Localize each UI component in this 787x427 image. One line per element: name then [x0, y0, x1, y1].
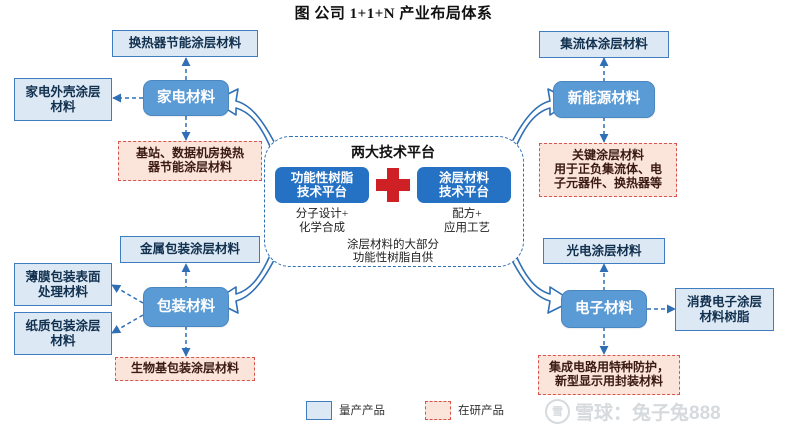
legend-swatch-in-research	[425, 401, 451, 420]
diagram-canvas: 图 公司 1+1+N 产业布局体系	[0, 0, 787, 427]
platform-left-caption-line2: 化学合成	[267, 221, 377, 235]
product-appliance-shell-coating-line2: 材料	[25, 100, 100, 114]
rnd-ic-protection-packaging-line1: 集成电路用特种防护，	[549, 361, 669, 375]
product-consumer-electronics-coating-line1: 消费电子涂层	[687, 295, 762, 309]
wire-packaging-to-paper	[112, 315, 143, 333]
product-film-packaging-surface[interactable]: 薄膜包装表面 处理材料	[14, 263, 112, 306]
platform-right-caption-line2: 应用工艺	[412, 221, 522, 235]
self-supply-note-line2: 功能性树脂自供	[285, 252, 501, 265]
product-film-packaging-surface-line1: 薄膜包装表面	[25, 270, 100, 284]
hub-home-appliance-materials[interactable]: 家电材料	[143, 80, 229, 116]
product-photoelectric-coating[interactable]: 光电涂层材料	[543, 238, 665, 264]
product-paper-packaging-coating-line1: 纸质包装涂层	[25, 319, 100, 333]
watermark-logo-icon: 雪	[545, 399, 570, 424]
product-appliance-shell-coating-line1: 家电外壳涂层	[25, 85, 100, 99]
rnd-key-coating-materials-line3: 子元器件、换热器等	[554, 177, 662, 191]
platform-functional-resin-line1: 功能性树脂	[291, 171, 354, 185]
platform-coating-material-line1: 涂层材料	[439, 171, 489, 185]
product-current-collector-coating[interactable]: 集流体涂层材料	[539, 31, 669, 58]
platform-functional-resin-line2: 技术平台	[291, 185, 354, 199]
legend: 量产产品 在研产品	[306, 400, 504, 420]
platform-right-caption: 配方+ 应用工艺	[412, 207, 522, 235]
platform-left-caption-line1: 分子设计+	[267, 207, 377, 221]
rnd-ic-protection-packaging[interactable]: 集成电路用特种防护， 新型显示用封装材料	[538, 355, 680, 395]
rnd-ic-protection-packaging-line2: 新型显示用封装材料	[549, 375, 669, 389]
plus-icon	[376, 168, 410, 202]
platform-functional-resin[interactable]: 功能性树脂 技术平台	[275, 167, 369, 203]
hub-electronic-materials[interactable]: 电子材料	[561, 290, 647, 328]
rnd-bio-based-packaging-coating[interactable]: 生物基包装涂层材料	[115, 357, 255, 381]
platform-coating-material[interactable]: 涂层材料 技术平台	[417, 167, 511, 203]
product-appliance-shell-coating[interactable]: 家电外壳涂层 材料	[14, 78, 112, 121]
product-heat-exchanger-coating[interactable]: 换热器节能涂层材料	[112, 30, 258, 57]
rnd-base-station-coating[interactable]: 基站、数据机房换热 器节能涂层材料	[118, 141, 262, 181]
product-metal-packaging-coating[interactable]: 金属包装涂层材料	[120, 236, 260, 263]
watermark-text: 雪球：兔子兔888	[575, 398, 721, 425]
product-paper-packaging-coating-line2: 材料	[25, 334, 100, 348]
platform-coating-material-line2: 技术平台	[439, 185, 489, 199]
watermark: 雪 雪球：兔子兔888	[545, 396, 785, 426]
legend-label-mass-production: 量产产品	[339, 402, 385, 418]
product-consumer-electronics-coating[interactable]: 消费电子涂层 材料树脂	[675, 288, 774, 331]
product-consumer-electronics-coating-line2: 材料树脂	[687, 310, 762, 324]
platform-left-caption: 分子设计+ 化学合成	[267, 207, 377, 235]
page-title: 图 公司 1+1+N 产业布局体系	[0, 2, 787, 23]
hub-packaging-materials[interactable]: 包装材料	[143, 287, 229, 327]
legend-swatch-mass-production	[306, 401, 332, 420]
legend-label-in-research: 在研产品	[458, 402, 504, 418]
rnd-base-station-coating-line2: 器节能涂层材料	[136, 161, 244, 175]
product-film-packaging-surface-line2: 处理材料	[25, 285, 100, 299]
self-supply-note: 涂层材料的大部分 功能性树脂自供	[285, 239, 501, 265]
product-paper-packaging-coating[interactable]: 纸质包装涂层 材料	[14, 312, 112, 355]
rnd-base-station-coating-line1: 基站、数据机房换热	[136, 147, 244, 161]
platform-right-caption-line1: 配方+	[412, 207, 522, 221]
technology-platform-heading: 两大技术平台	[264, 142, 522, 162]
rnd-key-coating-materials-line2: 用于正负集流体、电	[554, 163, 662, 177]
rnd-key-coating-materials[interactable]: 关键涂层材料 用于正负集流体、电 子元器件、换热器等	[539, 143, 677, 197]
self-supply-note-line1: 涂层材料的大部分	[285, 239, 501, 252]
wire-packaging-to-film	[112, 285, 143, 303]
hub-new-energy-materials[interactable]: 新能源材料	[553, 81, 655, 118]
